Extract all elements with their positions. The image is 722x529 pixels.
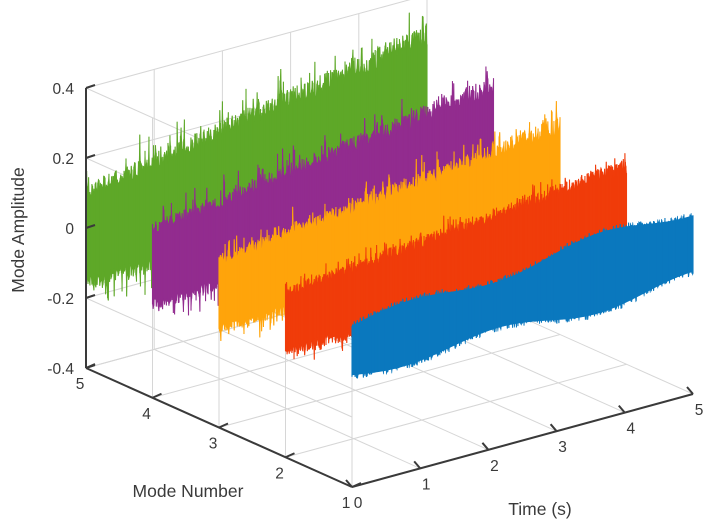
axis-text: 0.4: [52, 81, 74, 98]
waterfall-chart-svg: -0.4-0.200.20.454321012345Mode Amplitude…: [0, 0, 722, 529]
axis-text: 0: [65, 221, 74, 238]
data-series-group: [86, 13, 693, 379]
axis-text: 0: [354, 495, 363, 512]
x-axis-title: Time (s): [508, 499, 572, 519]
axis-text: 3: [558, 439, 567, 456]
axis-text: 2: [275, 465, 284, 482]
z-axis-title: Mode Amplitude: [8, 167, 28, 293]
axis-text: 1: [422, 476, 431, 493]
axis-text: 1: [342, 495, 351, 512]
axis-text: 0.2: [52, 151, 74, 168]
figure-3d-waterfall-plot: -0.4-0.200.20.454321012345Mode Amplitude…: [0, 0, 722, 529]
axis-text: 5: [695, 402, 704, 419]
axis-text: 2: [490, 458, 499, 475]
axis-text: 5: [76, 376, 85, 393]
axis-text: 4: [142, 406, 151, 423]
axis-text: -0.2: [47, 291, 74, 308]
y-axis-title: Mode Number: [133, 481, 244, 501]
axis-text: 3: [209, 436, 218, 453]
axis-text: 4: [626, 421, 635, 438]
axis-text: -0.4: [47, 361, 74, 378]
